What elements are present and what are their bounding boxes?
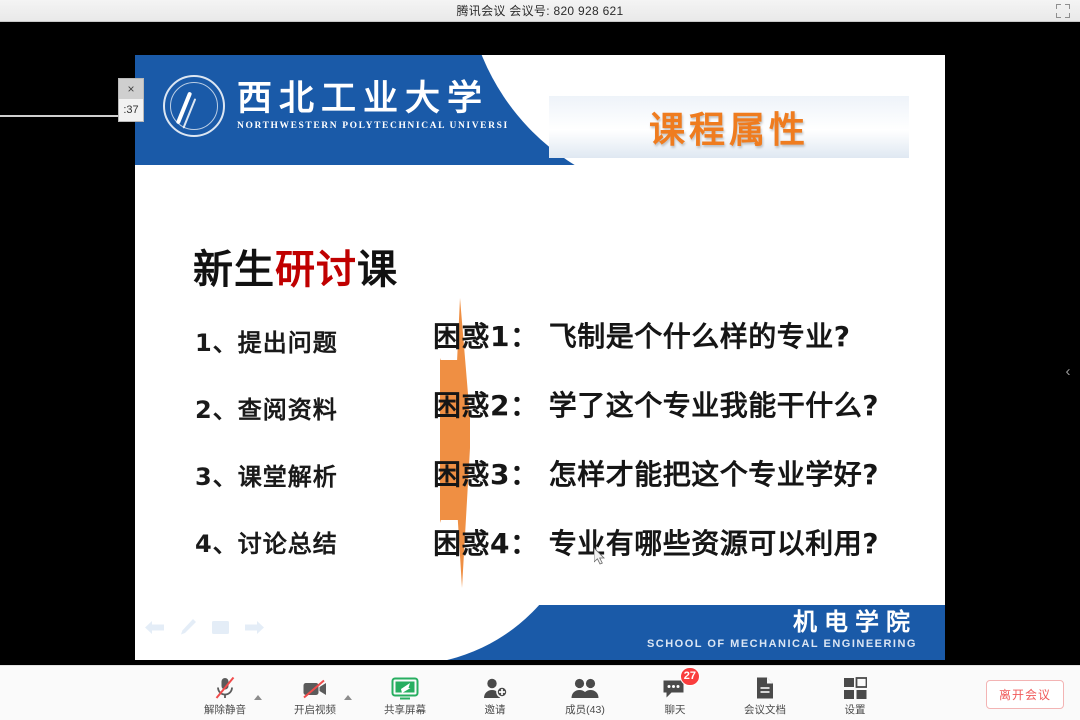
toolbar-item-invite[interactable]: 邀请 <box>462 671 528 717</box>
toolbar-item-participants[interactable]: 成员(43) <box>552 671 618 717</box>
toolbar-label: 邀请 <box>485 702 506 717</box>
mouse-cursor <box>594 548 606 566</box>
timer-value: :37 <box>119 99 143 121</box>
university-name-block: 西北工业大学 NORTHWESTERN POLYTECHNICAL UNIVER… <box>237 81 509 131</box>
document-icon[interactable] <box>755 674 775 700</box>
chat-unread-badge: 27 <box>680 667 700 686</box>
university-seal-icon <box>163 75 225 137</box>
chevron-left-icon[interactable]: ‹ <box>1060 358 1076 384</box>
share-screen-icon[interactable] <box>391 674 419 700</box>
mic-options-caret-icon[interactable] <box>254 695 262 700</box>
right-arrow-icon[interactable] <box>245 620 264 635</box>
invite-person-icon[interactable] <box>483 674 508 700</box>
toolbar-label: 共享屏幕 <box>384 702 426 717</box>
list-item: 2、查阅资料 <box>195 390 405 425</box>
list-item: 困惑4： 专业有哪些资源可以利用? <box>433 522 879 562</box>
headline-prefix: 新生 <box>193 247 275 293</box>
toolbar-label: 聊天 <box>665 702 686 717</box>
list-item: 困惑3： 怎样才能把这个专业学好? <box>433 453 879 493</box>
participants-icon[interactable] <box>571 674 599 700</box>
headline-highlight: 研讨 <box>275 247 357 293</box>
close-icon[interactable]: × <box>119 79 143 99</box>
toolbar-item-documents[interactable]: 会议文档 <box>732 671 798 717</box>
presentation-slide: 西北工业大学 NORTHWESTERN POLYTECHNICAL UNIVER… <box>135 55 945 660</box>
list-item: 困惑1： 飞制是个什么样的专业? <box>433 315 879 355</box>
slide-title: 课程属性 <box>649 101 809 153</box>
toolbar-label: 解除静音 <box>204 702 246 717</box>
mic-muted-icon[interactable] <box>214 674 236 700</box>
camera-off-icon[interactable] <box>302 674 328 700</box>
university-name-en: NORTHWESTERN POLYTECHNICAL UNIVERSI <box>237 121 509 131</box>
toolbar-label: 设置 <box>845 702 866 717</box>
fullscreen-icon[interactable] <box>1056 4 1070 18</box>
toolbar-item-settings[interactable]: 设置 <box>822 671 888 717</box>
step-list: 1、提出问题 2、查阅资料 3、课堂解析 4、讨论总结 <box>195 323 405 591</box>
toolbar-label: 开启视频 <box>294 702 336 717</box>
slide-title-plate: 课程属性 <box>549 96 909 158</box>
shared-content-stage: × :37 ‹ 西北工业大学 NORTHWESTERN POLYTECHNICA… <box>0 22 1080 665</box>
overlay-divider <box>0 115 122 117</box>
list-item: 3、课堂解析 <box>195 457 405 492</box>
slide-headline: 新生研讨课 <box>193 237 398 295</box>
list-item: 1、提出问题 <box>195 323 405 358</box>
slide-header: 西北工业大学 NORTHWESTERN POLYTECHNICAL UNIVER… <box>135 55 945 165</box>
layout-grid-icon[interactable] <box>844 674 867 700</box>
toolbar-buttons: 解除静音 开启视频 <box>0 666 1080 720</box>
video-options-caret-icon[interactable] <box>344 695 352 700</box>
college-name-cn: 机电学院 <box>647 609 917 637</box>
meeting-title: 腾讯会议 会议号: 820 928 621 <box>456 2 623 19</box>
pen-icon[interactable] <box>180 619 196 635</box>
left-arrow-icon[interactable] <box>145 620 164 635</box>
slide-footer: 机电学院 SCHOOL OF MECHANICAL ENGINEERING <box>135 605 945 660</box>
headline-suffix: 课 <box>357 247 398 293</box>
floating-timer-panel[interactable]: × :37 <box>118 78 144 122</box>
toolbar-label: 成员(43) <box>565 702 605 717</box>
toolbar-label: 会议文档 <box>744 702 786 717</box>
slide-body: 新生研讨课 1、提出问题 2、查阅资料 3、课堂解析 4、讨论总结 困惑1： 飞… <box>135 165 945 605</box>
list-item: 4、讨论总结 <box>195 524 405 559</box>
toolbar-item-unmute[interactable]: 解除静音 <box>192 671 258 717</box>
meeting-toolbar: 解除静音 开启视频 <box>0 665 1080 720</box>
toolbar-item-chat[interactable]: 27 聊天 <box>642 671 708 717</box>
toolbar-item-share-screen[interactable]: 共享屏幕 <box>372 671 438 717</box>
slide-nav-bar[interactable] <box>145 619 264 635</box>
university-name-cn: 西北工业大学 <box>237 81 509 118</box>
rectangle-icon[interactable] <box>212 621 229 634</box>
title-bar: 腾讯会议 会议号: 820 928 621 <box>0 0 1080 22</box>
question-list: 困惑1： 飞制是个什么样的专业? 困惑2： 学了这个专业我能干什么? 困惑3： … <box>433 315 879 591</box>
meeting-window: 腾讯会议 会议号: 820 928 621 × :37 ‹ 西北工业大学 <box>0 0 1080 720</box>
toolbar-item-start-video[interactable]: 开启视频 <box>282 671 348 717</box>
university-logo: 西北工业大学 NORTHWESTERN POLYTECHNICAL UNIVER… <box>163 75 509 137</box>
leave-meeting-button[interactable]: 离开会议 <box>986 680 1064 709</box>
list-item: 困惑2： 学了这个专业我能干什么? <box>433 384 879 424</box>
college-name-en: SCHOOL OF MECHANICAL ENGINEERING <box>647 638 917 650</box>
college-block: 机电学院 SCHOOL OF MECHANICAL ENGINEERING <box>647 609 917 650</box>
title-bar-actions[interactable] <box>1050 0 1076 22</box>
